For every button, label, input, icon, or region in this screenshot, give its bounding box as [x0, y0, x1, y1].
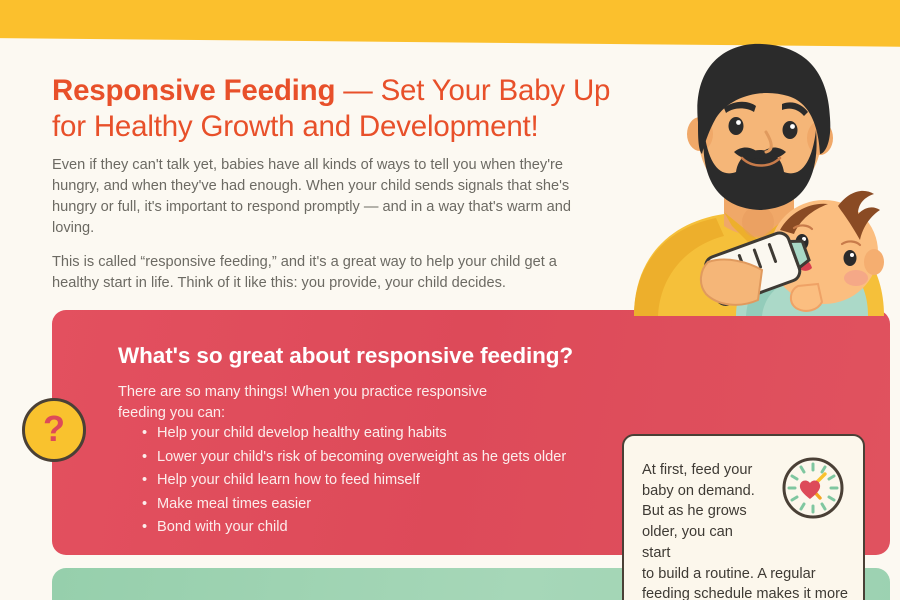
list-item: Bond with your child — [142, 517, 566, 539]
list-item: Help your child develop healthy eating h… — [142, 423, 566, 445]
father-feeding-baby-illustration — [612, 26, 900, 316]
benefits-card-lead: There are so many things! When you pract… — [118, 382, 538, 423]
page-title: Responsive Feeding — Set Your Baby Up fo… — [52, 73, 642, 146]
list-item: Help your child learn how to feed himsel… — [142, 470, 566, 492]
tip-text-narrow: At first, feed your baby on demand. But … — [642, 460, 760, 564]
tip-callout-card: At first, feed your baby on demand. But … — [622, 434, 865, 600]
tip-text-wide: to build a routine. A regular feeding sc… — [642, 564, 854, 600]
page-title-strong: Responsive Feeding — [52, 74, 335, 107]
list-item: Lower your child's risk of becoming over… — [142, 447, 566, 469]
intro-paragraph-2: This is called “responsive feeding,” and… — [52, 252, 597, 294]
intro-paragraphs: Even if they can't talk yet, babies have… — [52, 155, 597, 294]
intro-paragraph-1: Even if they can't talk yet, babies have… — [52, 155, 597, 238]
question-mark-icon: ? — [22, 398, 86, 462]
benefits-list: Help your child develop healthy eating h… — [142, 423, 566, 541]
question-mark-glyph: ? — [43, 411, 65, 447]
tip-callout-text: At first, feed your baby on demand. But … — [642, 460, 854, 600]
benefits-card-title: What's so great about responsive feeding… — [118, 343, 573, 369]
list-item: Make meal times easier — [142, 494, 566, 516]
infographic-page: Responsive Feeding — Set Your Baby Up fo… — [0, 0, 900, 600]
